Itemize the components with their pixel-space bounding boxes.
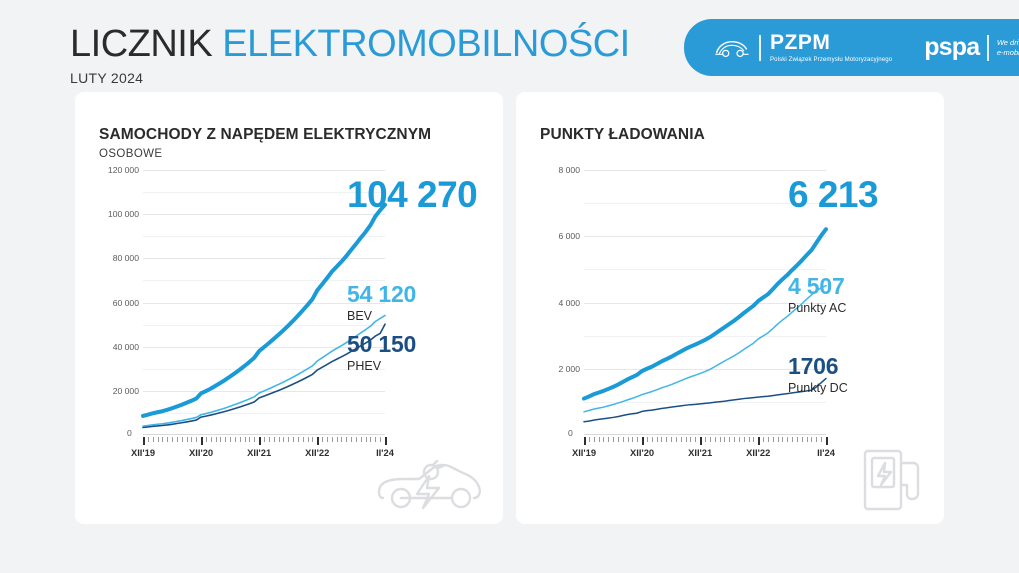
x-tick: [768, 437, 769, 442]
x-tick: [657, 437, 658, 442]
x-tick: [225, 437, 226, 442]
x-tick: [293, 437, 294, 442]
x-tick: [196, 437, 197, 442]
x-tick: [312, 437, 313, 442]
x-tick: [356, 437, 357, 442]
stat-ac-value: 4 507: [788, 274, 846, 299]
x-tick-label: XII'22: [305, 447, 329, 458]
pzpm-full-name: Polski Związek Przemysłu Motoryzacyjnego: [770, 56, 892, 64]
x-tick: [647, 437, 648, 442]
x-tick: [652, 437, 653, 442]
x-tick: [167, 437, 168, 442]
x-tick: [317, 437, 319, 445]
x-tick: [826, 437, 828, 445]
x-tick: [143, 437, 145, 445]
x-tick: [749, 437, 750, 442]
x-tick: [681, 437, 682, 442]
pspa-logo: pspa We drive e-mobility: [924, 35, 1019, 61]
charging-station-icon: [861, 447, 925, 518]
x-axis-line-points: [584, 434, 826, 435]
x-tick: [254, 437, 255, 442]
x-tick: [758, 437, 760, 445]
total-value-points: 6 213: [788, 176, 878, 214]
x-tick-label: XII'19: [572, 447, 596, 458]
stat-phev-label: PHEV: [347, 358, 416, 374]
x-tick: [594, 437, 595, 442]
card-title-points: PUNKTY ŁADOWANIA: [540, 126, 705, 144]
y-tick-label: 60 000: [113, 298, 139, 308]
electric-car-icon: [375, 454, 485, 521]
x-tick: [676, 437, 677, 442]
stat-dc-label: Punkty DC: [788, 380, 848, 396]
x-tick: [385, 437, 387, 445]
y-tick-label: 100 000: [108, 209, 139, 219]
x-tick: [763, 437, 764, 442]
page-title: LICZNIK ELEKTROMOBILNOŚCI: [70, 22, 630, 66]
x-axis-labels-cars: XII'19XII'20XII'21XII'22II'24: [107, 447, 397, 461]
x-tick: [599, 437, 600, 442]
x-tick-label: XII'21: [247, 447, 271, 458]
x-tick: [366, 437, 367, 442]
x-tick: [744, 437, 745, 442]
x-tick: [298, 437, 299, 442]
x-tick: [773, 437, 774, 442]
card-charging-points: PUNKTY ŁADOWANIA 2 0004 0006 0008 000 0 …: [516, 92, 944, 524]
x-tick: [671, 437, 672, 442]
x-tick: [351, 437, 352, 442]
x-tick: [782, 437, 783, 442]
y-tick-label: 4 000: [558, 298, 580, 308]
x-tick: [332, 437, 333, 442]
y-axis-zero-label-cars: 0: [127, 428, 132, 438]
stat-bev-value: 54 120: [347, 282, 416, 307]
x-tick: [811, 437, 812, 442]
y-tick-label: 120 000: [108, 165, 139, 175]
x-tick: [603, 437, 604, 442]
x-tick: [245, 437, 246, 442]
pzpm-car-mark-icon: [714, 35, 750, 61]
x-axis-ticks-cars: [143, 437, 385, 445]
title-main: LICZNIK: [70, 23, 212, 65]
x-tick: [666, 437, 667, 442]
x-tick-label: XII'20: [189, 447, 213, 458]
x-tick: [288, 437, 289, 442]
x-tick: [187, 437, 188, 442]
x-tick: [710, 437, 711, 442]
y-tick-label: 80 000: [113, 253, 139, 263]
x-tick: [613, 437, 614, 442]
x-tick-label: XII'19: [131, 447, 155, 458]
x-axis-line-cars: [143, 434, 385, 435]
x-tick: [283, 437, 284, 442]
chart-charging-points: 2 0004 0006 0008 000 0 XII'19XII'20XII'2…: [528, 170, 828, 460]
x-tick: [177, 437, 178, 442]
x-tick: [274, 437, 275, 442]
pzpm-text-block: PZPM Polski Związek Przemysłu Motoryzacy…: [770, 32, 892, 64]
x-tick: [642, 437, 644, 445]
y-axis-labels-cars: 20 00040 00060 00080 000100 000120 000: [87, 170, 139, 435]
x-tick: [690, 437, 691, 442]
x-tick: [182, 437, 183, 442]
y-tick-label: 40 000: [113, 342, 139, 352]
stat-dc: 1706 Punkty DC: [788, 354, 848, 396]
y-tick-label: 6 000: [558, 231, 580, 241]
pspa-tagline: We drive e-mobility: [997, 38, 1019, 58]
x-tick: [686, 437, 687, 442]
x-tick: [206, 437, 207, 442]
x-tick: [584, 437, 586, 445]
pspa-tagline-line2: e-mobility: [997, 48, 1019, 57]
stat-bev-label: BEV: [347, 308, 416, 324]
x-tick: [724, 437, 725, 442]
x-tick: [269, 437, 270, 442]
x-tick: [375, 437, 376, 442]
x-tick-label: XII'21: [688, 447, 712, 458]
x-tick: [370, 437, 371, 442]
x-tick: [235, 437, 236, 442]
card-title-cars: SAMOCHODY Z NAPĘDEM ELEKTRYCZNYM: [99, 126, 431, 144]
y-tick-label: 8 000: [558, 165, 580, 175]
x-tick: [632, 437, 633, 442]
x-tick: [337, 437, 338, 442]
x-tick: [249, 437, 250, 442]
x-tick: [729, 437, 730, 442]
x-axis-ticks-points: [584, 437, 826, 445]
x-tick: [661, 437, 662, 442]
title-accent: ELEKTROMOBILNOŚCI: [222, 23, 629, 65]
x-tick: [637, 437, 638, 442]
pzpm-divider: [759, 35, 761, 61]
pzpm-name: PZPM: [770, 32, 892, 54]
card-electric-cars: SAMOCHODY Z NAPĘDEM ELEKTRYCZNYM OSOBOWE…: [75, 92, 503, 524]
page-header: LICZNIK ELEKTROMOBILNOŚCI LUTY 2024: [70, 22, 630, 86]
x-tick: [715, 437, 716, 442]
x-tick: [821, 437, 822, 442]
x-tick: [162, 437, 163, 442]
stat-phev-value: 50 150: [347, 332, 416, 357]
x-tick: [734, 437, 735, 442]
y-tick-label: 20 000: [113, 386, 139, 396]
x-tick: [618, 437, 619, 442]
y-axis-zero-label-points: 0: [568, 428, 573, 438]
x-tick: [216, 437, 217, 442]
x-tick-label: II'24: [817, 447, 835, 458]
x-tick: [589, 437, 590, 442]
x-tick: [787, 437, 788, 442]
x-tick: [327, 437, 328, 442]
x-axis-labels-points: XII'19XII'20XII'21XII'22II'24: [548, 447, 838, 461]
stat-ac-label: Punkty AC: [788, 300, 846, 316]
stat-phev: 50 150 PHEV: [347, 332, 416, 374]
x-tick: [628, 437, 629, 442]
x-tick: [623, 437, 624, 442]
page-subtitle: LUTY 2024: [70, 70, 630, 86]
x-tick: [259, 437, 261, 445]
x-tick: [802, 437, 803, 442]
x-tick: [695, 437, 696, 442]
pspa-name: pspa: [924, 35, 979, 60]
chart-electric-cars: 20 00040 00060 00080 000100 000120 000 0…: [87, 170, 387, 460]
pspa-divider: [987, 35, 989, 61]
x-tick: [240, 437, 241, 442]
stat-bev: 54 120 BEV: [347, 282, 416, 324]
y-axis-labels-points: 2 0004 0006 0008 000: [528, 170, 580, 435]
total-value-cars: 104 270: [347, 176, 477, 214]
x-tick-label: XII'20: [630, 447, 654, 458]
x-tick: [211, 437, 212, 442]
x-tick: [303, 437, 304, 442]
x-tick: [608, 437, 609, 442]
infographic-page: LICZNIK ELEKTROMOBILNOŚCI LUTY 2024 PZPM…: [0, 0, 1019, 573]
x-tick: [279, 437, 280, 442]
x-tick: [797, 437, 798, 442]
x-tick: [172, 437, 173, 442]
x-tick: [739, 437, 740, 442]
x-tick: [230, 437, 231, 442]
pzpm-logo: PZPM Polski Związek Przemysłu Motoryzacy…: [714, 32, 892, 64]
x-tick: [778, 437, 779, 442]
x-tick: [322, 437, 323, 442]
x-tick: [153, 437, 154, 442]
x-tick-label: XII'22: [746, 447, 770, 458]
x-tick: [346, 437, 347, 442]
x-tick: [720, 437, 721, 442]
x-tick: [380, 437, 381, 442]
stat-ac: 4 507 Punkty AC: [788, 274, 846, 316]
x-tick: [341, 437, 342, 442]
pspa-tagline-line1: We drive: [997, 38, 1019, 47]
x-tick: [201, 437, 203, 445]
x-tick: [816, 437, 817, 442]
x-tick: [264, 437, 265, 442]
x-tick: [308, 437, 309, 442]
x-tick: [220, 437, 221, 442]
x-tick: [807, 437, 808, 442]
x-tick: [705, 437, 706, 442]
y-tick-label: 2 000: [558, 364, 580, 374]
x-tick: [792, 437, 793, 442]
x-tick: [148, 437, 149, 442]
x-tick: [361, 437, 362, 442]
x-tick: [700, 437, 702, 445]
stat-dc-value: 1706: [788, 354, 848, 379]
x-tick: [191, 437, 192, 442]
x-tick: [158, 437, 159, 442]
card-subtitle-cars: OSOBOWE: [99, 148, 163, 160]
logo-banner: PZPM Polski Związek Przemysłu Motoryzacy…: [684, 19, 1019, 76]
x-tick: [753, 437, 754, 442]
